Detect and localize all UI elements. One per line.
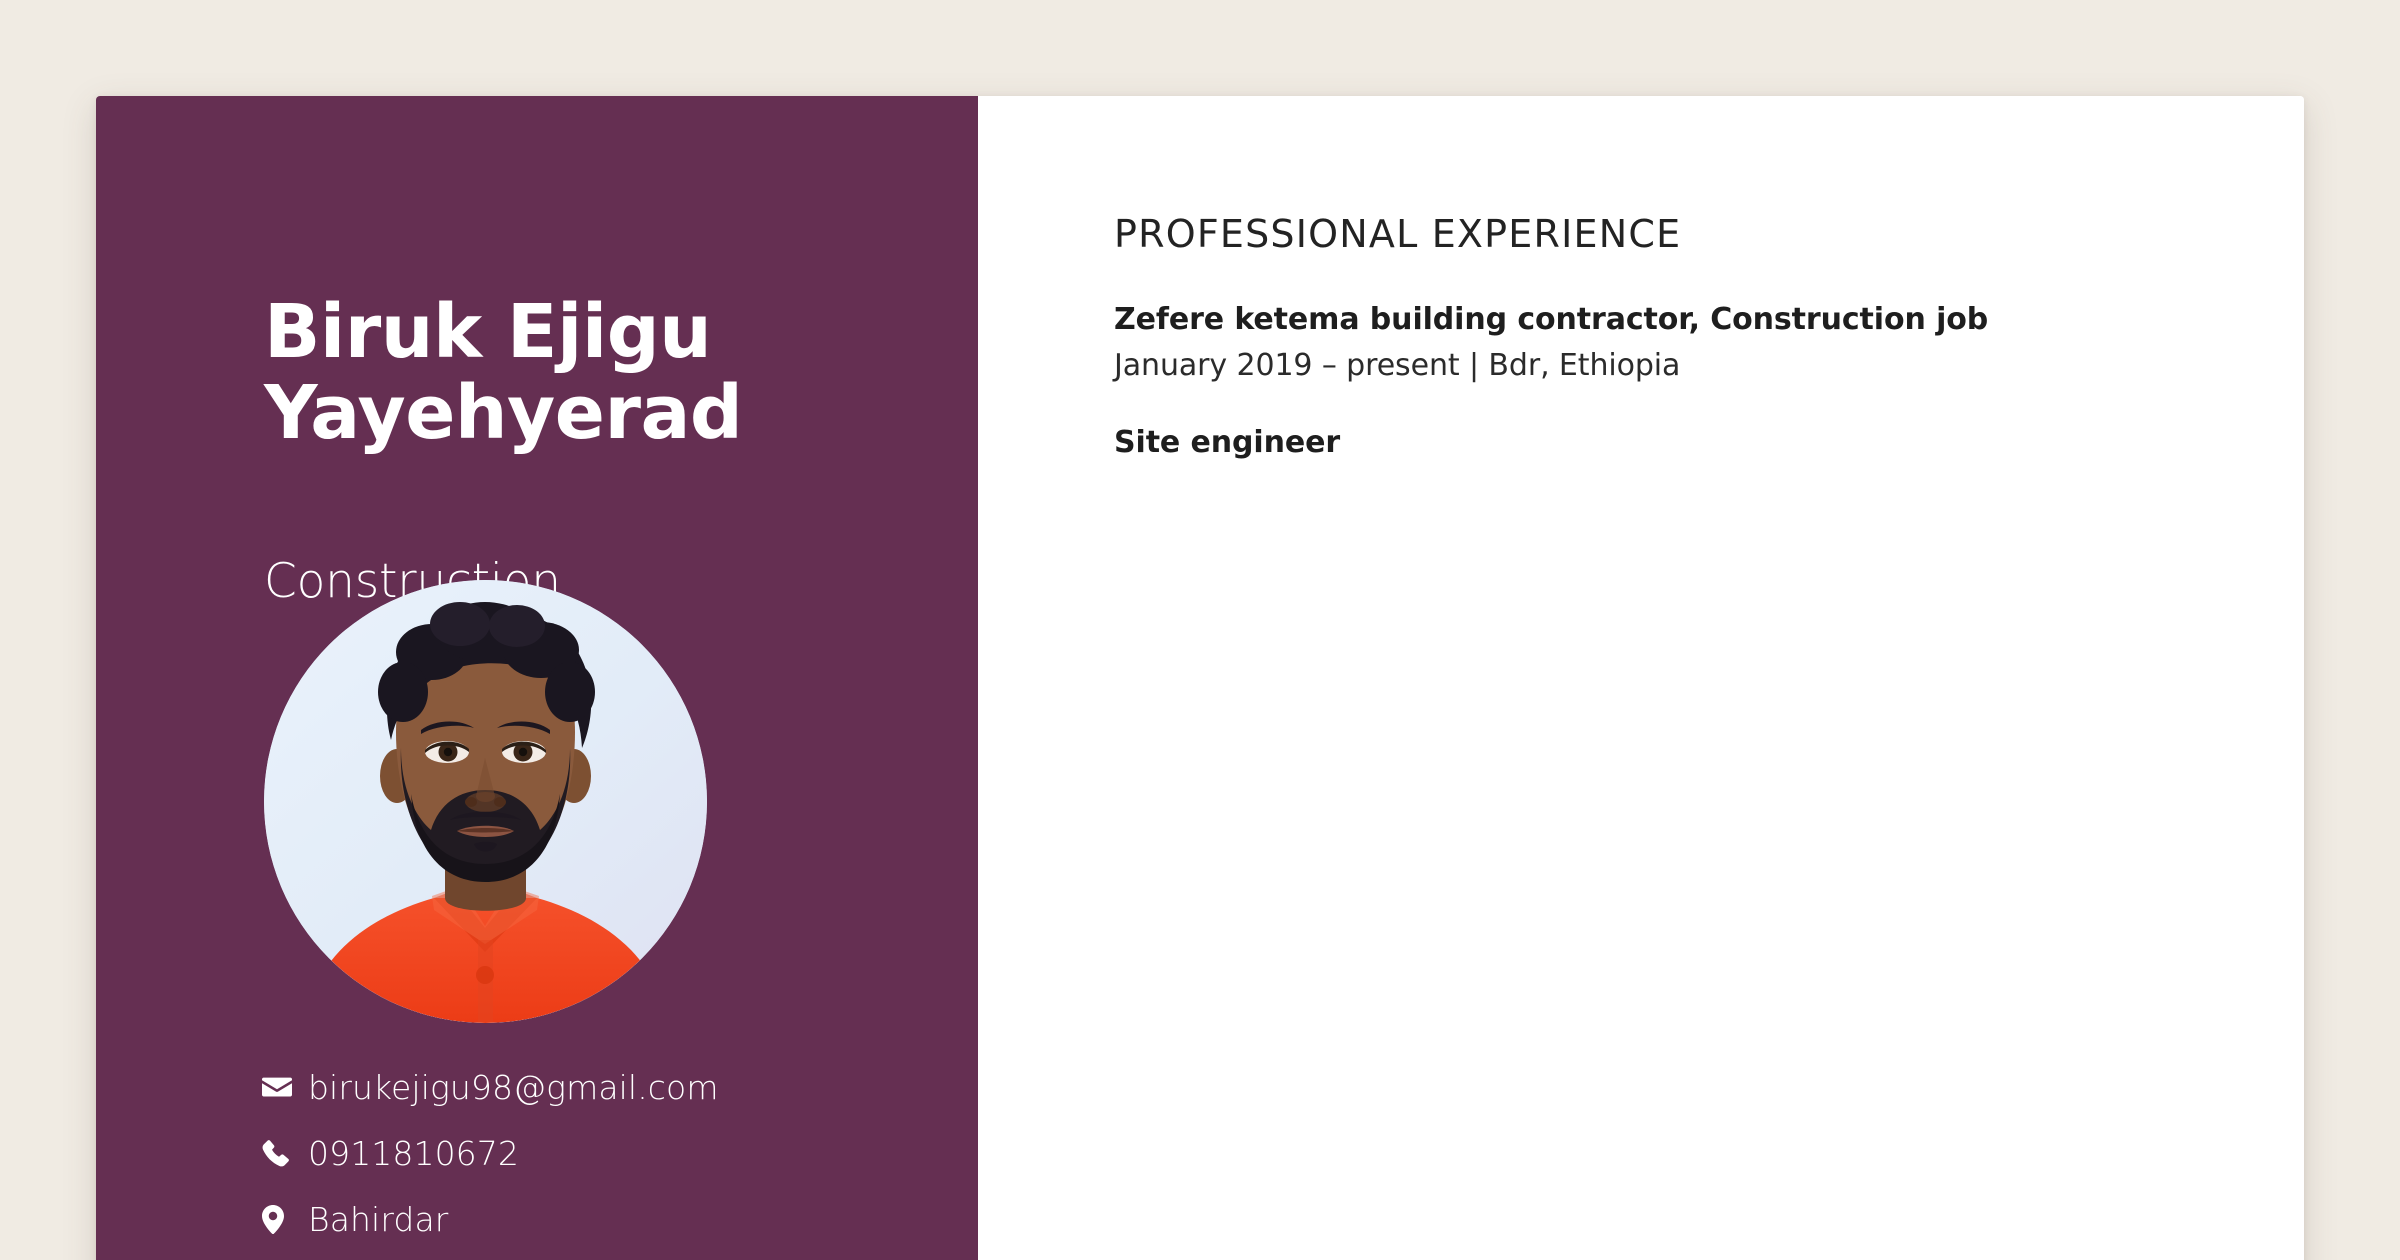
resume-card: Biruk Ejigu Yayehyerad Construction [96,96,2304,1260]
experience-entry: Zefere ketema building contractor, Const… [1114,300,2304,387]
contact-item-phone[interactable]: 0911810672 [262,1120,962,1186]
contact-phone-text: 0911810672 [308,1134,519,1173]
envelope-icon [262,1075,308,1099]
contact-list: birukejigu98@gmail.com 0911810672 [262,1054,962,1252]
full-name: Biruk Ejigu Yayehyerad [264,292,944,455]
resume-main-panel: PROFESSIONAL EXPERIENCE Zefere ketema bu… [978,96,2304,1260]
experience-date-location: January 2019 – present | Bdr, Ethiopia [1114,346,2304,387]
section-heading-professional-experience: PROFESSIONAL EXPERIENCE [1114,212,2304,258]
avatar [264,580,707,1023]
resume-page: Biruk Ejigu Yayehyerad Construction [0,0,2400,1260]
contact-location-text: Bahirdar [308,1200,448,1239]
contact-email-text: birukejigu98@gmail.com [308,1068,719,1107]
experience-title: Zefere ketema building contractor, Const… [1114,300,2304,341]
phone-icon [262,1140,308,1167]
location-pin-icon [262,1205,308,1234]
contact-item-location[interactable]: Bahirdar [262,1186,962,1252]
profession-subtitle: Construction [264,556,944,608]
contact-item-email[interactable]: birukejigu98@gmail.com [262,1054,962,1120]
resume-sidebar: Biruk Ejigu Yayehyerad Construction [96,96,978,1260]
experience-role: Site engineer [1114,423,2304,464]
